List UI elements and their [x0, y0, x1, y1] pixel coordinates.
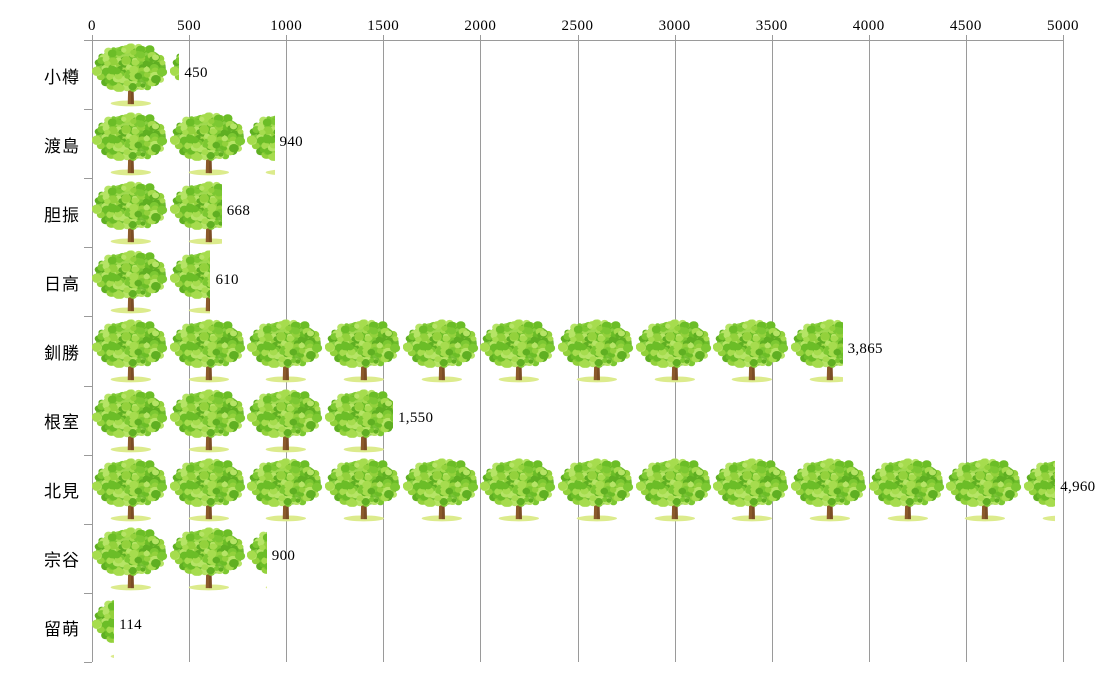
tree-icon [869, 456, 947, 523]
x-tick-mark-1500 [383, 35, 384, 40]
tree-icon [247, 110, 274, 177]
category-label-6: 根室 [0, 408, 80, 433]
tree-icon [1024, 456, 1055, 523]
tree-icon [247, 387, 325, 454]
tree-icon [92, 41, 170, 108]
tree-icon [791, 317, 843, 384]
tree-strip [92, 110, 275, 177]
tree-icon [247, 525, 266, 592]
tree-icon [480, 456, 558, 523]
pictograph-row [92, 41, 179, 108]
category-tick-9 [84, 593, 92, 594]
tree-icon [325, 317, 403, 384]
tree-strip [92, 41, 179, 108]
x-tick-label-3500: 3500 [756, 18, 788, 35]
tree-strip [92, 179, 222, 246]
pictograph-row [92, 456, 1055, 523]
value-label-8: 900 [272, 548, 295, 565]
value-label-5: 3,865 [848, 341, 883, 358]
tree-icon [170, 525, 248, 592]
x-tick-label-4500: 4500 [950, 18, 982, 35]
tree-icon [92, 179, 170, 246]
category-label-7: 北見 [0, 477, 80, 502]
tree-icon [170, 248, 211, 315]
tree-icon [92, 594, 114, 661]
value-label-9: 114 [119, 617, 142, 634]
pictograph-chart: 0500100015002000250030003500400045005000… [0, 0, 1100, 690]
tree-strip [92, 525, 267, 592]
category-tick-2 [84, 109, 92, 110]
category-label-2: 渡島 [0, 132, 80, 157]
x-tick-mark-3000 [675, 35, 676, 40]
tree-strip [92, 387, 393, 454]
x-tick-mark-4500 [966, 35, 967, 40]
tree-strip [92, 248, 210, 315]
pictograph-row [92, 317, 843, 384]
value-label-6: 1,550 [398, 410, 433, 427]
tree-strip [92, 594, 114, 661]
tree-icon [170, 456, 248, 523]
pictograph-row [92, 248, 210, 315]
category-label-1: 小樽 [0, 63, 80, 88]
tree-icon [170, 179, 222, 246]
tree-icon [713, 456, 791, 523]
tree-icon [403, 317, 481, 384]
tree-icon [170, 41, 180, 108]
category-tick-5 [84, 316, 92, 317]
x-tick-label-1500: 1500 [367, 18, 399, 35]
value-label-2: 940 [280, 134, 303, 151]
tree-icon [946, 456, 1024, 523]
tree-icon [92, 110, 170, 177]
tree-icon [403, 456, 481, 523]
tree-icon [558, 456, 636, 523]
x-tick-mark-5000 [1063, 35, 1064, 40]
x-tick-mark-500 [189, 35, 190, 40]
tree-icon [170, 387, 248, 454]
value-label-1: 450 [184, 65, 207, 82]
category-label-8: 宗谷 [0, 546, 80, 571]
x-tick-label-4000: 4000 [853, 18, 885, 35]
x-tick-mark-2500 [578, 35, 579, 40]
tree-icon [170, 317, 248, 384]
tree-icon [325, 456, 403, 523]
pictograph-row [92, 110, 275, 177]
tree-icon [92, 317, 170, 384]
value-label-7: 4,960 [1060, 479, 1095, 496]
x-tick-label-1000: 1000 [270, 18, 302, 35]
category-label-5: 釧勝 [0, 339, 80, 364]
x-tick-mark-4000 [869, 35, 870, 40]
category-tick-8 [84, 524, 92, 525]
category-tick-4 [84, 247, 92, 248]
x-tick-mark-1000 [286, 35, 287, 40]
pictograph-row [92, 525, 267, 592]
x-tick-label-3000: 3000 [659, 18, 691, 35]
category-tick-3 [84, 178, 92, 179]
gridline-5000 [1063, 40, 1064, 662]
tree-icon [713, 317, 791, 384]
x-tick-label-0: 0 [88, 18, 96, 35]
tree-icon [92, 525, 170, 592]
tree-strip [92, 456, 1055, 523]
gridline-4500 [966, 40, 967, 662]
tree-icon [636, 317, 714, 384]
tree-icon [247, 317, 325, 384]
category-tick-6 [84, 386, 92, 387]
x-tick-mark-3500 [772, 35, 773, 40]
tree-icon [558, 317, 636, 384]
tree-icon [170, 110, 248, 177]
tree-icon [92, 456, 170, 523]
tree-icon [92, 248, 170, 315]
tree-strip [92, 317, 843, 384]
x-tick-label-2000: 2000 [464, 18, 496, 35]
category-tick-end [84, 662, 92, 663]
category-label-4: 日高 [0, 270, 80, 295]
tree-icon [325, 387, 393, 454]
category-tick-1 [84, 40, 92, 41]
category-tick-7 [84, 455, 92, 456]
pictograph-row [92, 179, 222, 246]
tree-icon [791, 456, 869, 523]
x-tick-label-2500: 2500 [562, 18, 594, 35]
x-tick-label-500: 500 [177, 18, 201, 35]
category-label-9: 留萌 [0, 615, 80, 640]
value-label-3: 668 [227, 203, 250, 220]
tree-icon [92, 387, 170, 454]
x-tick-mark-2000 [480, 35, 481, 40]
x-tick-label-5000: 5000 [1047, 18, 1079, 35]
pictograph-row [92, 387, 393, 454]
tree-icon [480, 317, 558, 384]
tree-icon [247, 456, 325, 523]
x-tick-mark-0 [92, 35, 93, 40]
pictograph-row [92, 594, 114, 661]
value-label-4: 610 [215, 272, 238, 289]
category-label-3: 胆振 [0, 201, 80, 226]
tree-icon [636, 456, 714, 523]
